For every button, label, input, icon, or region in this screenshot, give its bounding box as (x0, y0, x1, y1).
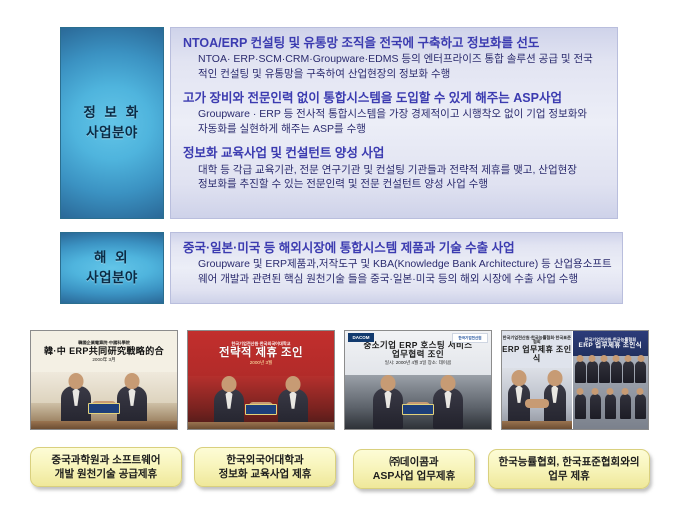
photo-banner-date: 일시: 2000년 4월 3일 장소: 데이콤 (385, 360, 452, 365)
photo-figures (502, 368, 572, 429)
photo-banner-main: 업무협력 조인 (392, 350, 444, 360)
photo-group-right: 한국기업전산원·한국능률협회 ERP 업무제휴 조인식 (573, 331, 648, 429)
section-label-line-2: 사업분야 (86, 268, 138, 288)
section-body-overseas-business-area: 중국·일본·미국 등 해외시장에 통합시스템 제품과 기술 수출 사업 Grou… (170, 232, 623, 304)
section-label-line-2: 사업분야 (86, 123, 138, 143)
caption-line: ㈜데이콤과 (389, 455, 438, 469)
business-item-desc-line: Groupware · ERP 등 전사적 통합시스템을 가장 경제적이고 시행… (183, 107, 607, 121)
photo-figures (188, 376, 334, 429)
business-item-title: 고가 장비와 전문인력 없이 통합시스템을 도입할 수 있게 해주는 ASP사업 (183, 90, 607, 106)
business-item: 중국·일본·미국 등 해외시장에 통합시스템 제품과 기술 수출 사업 Grou… (183, 240, 612, 286)
photo-signing-left: 한국기업전산원·한국능률협회·한국표준협회 ERP 업무제휴 조인식 (502, 331, 573, 429)
photo-group-figures (573, 356, 648, 429)
photo-banner-date: 2000년 3월 (250, 360, 273, 365)
business-item-desc-line: NTOA· ERP·SCM·CRM·Groupware·EDMS 등의 엔터프라… (183, 52, 607, 66)
section-body-it-business-area: NTOA/ERP 컨설팅 및 유통망 조직을 전국에 구축하고 정보화를 선도 … (170, 27, 618, 219)
photo-banner-top: 한국기업전산원·한국능률협회·한국표준협회 (502, 336, 572, 346)
caption-china-academy: 중국과학원과 소프트웨어 개발 원천기술 공급제휴 (30, 447, 182, 487)
business-item-desc-line: 자동화를 실현하게 해주는 ASP를 수행 (183, 122, 607, 136)
caption-kma-ksa: 한국능률협회, 한국표준협회와의 업무 제휴 (488, 449, 650, 489)
photo-banner-top: 한국기업전산원·한국외국어대학교 (231, 342, 290, 347)
photo-figures (31, 372, 177, 429)
business-item-desc-line: 적인 컨설팅 및 유통망을 구축하여 산업현장의 정보화 수행 (183, 67, 607, 81)
section-label-overseas-business-area: 해 외 사업분야 (60, 232, 164, 304)
section-it-business-area: 정 보 화 사업분야 NTOA/ERP 컨설팅 및 유통망 조직을 전국에 구축… (60, 27, 618, 219)
business-item-desc-line: 웨어 개발과 관련된 핵심 원천기술 들을 중국·일본·미국 등의 해외 시장에… (183, 272, 612, 286)
business-item-title: 중국·일본·미국 등 해외시장에 통합시스템 제품과 기술 수출 사업 (183, 240, 612, 256)
business-item-title: 정보화 교육사업 및 컨설턴트 양성 사업 (183, 145, 607, 161)
photo-table (31, 421, 177, 429)
business-item-desc-line: 정보화를 추진할 수 있는 전문인력 및 전문 컨설턴트 양성 사업 수행 (183, 177, 607, 191)
photo-banner-main: ERP 업무제휴 조인식 (579, 342, 643, 349)
caption-line: 업무 제휴 (548, 469, 590, 483)
photo-plaque (245, 404, 277, 415)
caption-line: 한국능률협회, 한국표준협회와의 (498, 455, 639, 469)
photo-wall (31, 372, 177, 403)
business-item: 고가 장비와 전문인력 없이 통합시스템을 도입할 수 있게 해주는 ASP사업… (183, 90, 607, 136)
photo-banner-top: 한국기업전산원·한국능률협회 (585, 338, 636, 343)
caption-line: 개발 원천기술 공급제휴 (55, 467, 157, 481)
photo-hufs-alliance: 한국기업전산원·한국외국어대학교 전략적 제휴 조인 2000년 3월 (187, 330, 335, 430)
photo-dacom-erp-hosting: 중소기업 ERP 호스팅 서비스 업무협력 조인 일시: 2000년 4월 3일… (344, 330, 492, 430)
caption-line: 정보화 교육사업 제휴 (219, 467, 312, 481)
caption-line: 중국과학원과 소프트웨어 (51, 453, 160, 467)
business-item: NTOA/ERP 컨설팅 및 유통망 조직을 전국에 구축하고 정보화를 선도 … (183, 35, 607, 81)
business-item-title: NTOA/ERP 컨설팅 및 유통망 조직을 전국에 구축하고 정보화를 선도 (183, 35, 607, 51)
section-label-line-1: 정 보 화 (83, 103, 140, 123)
caption-hufs: 한국외국어대학과 정보화 교육사업 제휴 (194, 447, 336, 487)
section-label-line-1: 해 외 (94, 248, 130, 268)
photo-plaque (402, 404, 434, 415)
photo-banner: 한국기업전산원·한국외국어대학교 전략적 제휴 조인 2000년 3월 (188, 331, 334, 376)
business-item-desc-line: 대학 등 각급 교육기관, 전문 연구기관 및 컨설팅 기관들과 전략적 제휴를… (183, 163, 607, 177)
photo-kma-ksa-alliance: 한국기업전산원·한국능률협회·한국표준협회 ERP 업무제휴 조인식 한국기업전… (501, 330, 649, 430)
photo-person-right (433, 388, 463, 429)
photo-row: 韓國企業電算院·中國科學院 韓·中 ERP共同研究戰略的合 2000年 3月 한… (30, 330, 650, 430)
photo-group-row-front (575, 394, 646, 419)
photo-figures (345, 375, 491, 429)
photo-plaque (88, 403, 120, 414)
photo-table (502, 421, 572, 430)
photo-banner: 韓國企業電算院·中國科學院 韓·中 ERP共同研究戰略的合 2000年 3月 (31, 331, 177, 372)
photo-person-left (373, 388, 403, 429)
photo-banner-date: 2000年 3月 (92, 357, 115, 362)
photo-banner-main: 韓·中 ERP共同研究戰略的合 (44, 346, 164, 356)
section-overseas-business-area: 해 외 사업분야 중국·일본·미국 등 해외시장에 통합시스템 제품과 기술 수… (60, 232, 618, 304)
kcci-logo: 한국기업전산원 (452, 333, 488, 343)
dacom-logo: DACOM (348, 333, 374, 342)
caption-line: 한국외국어대학과 (226, 453, 303, 467)
caption-line: ASP사업 업무제휴 (373, 469, 455, 483)
photo-group-row-back (575, 361, 646, 383)
photo-china-academy-of-sciences: 韓國企業電算院·中國科學院 韓·中 ERP共同研究戰略的合 2000年 3月 (30, 330, 178, 430)
business-item-desc-line: Groupware 및 ERP제품과,저작도구 및 KBA(Knowledge … (183, 257, 612, 271)
photo-banner: 한국기업전산원·한국능률협회·한국표준협회 ERP 업무제휴 조인식 (502, 331, 572, 368)
photo-banner-main: ERP 업무제휴 조인식 (502, 345, 572, 363)
section-label-it-business-area: 정 보 화 사업분야 (60, 27, 164, 219)
photo-handshake (525, 399, 549, 408)
photo-banner-main: 전략적 제휴 조인 (219, 347, 303, 360)
slide-root: 정 보 화 사업분야 NTOA/ERP 컨설팅 및 유통망 조직을 전국에 구축… (0, 0, 680, 510)
photo-table (188, 422, 334, 429)
caption-row: 중국과학원과 소프트웨어 개발 원천기술 공급제휴 한국외국어대학과 정보화 교… (30, 447, 650, 495)
caption-dacom: ㈜데이콤과 ASP사업 업무제휴 (353, 449, 475, 489)
business-item: 정보화 교육사업 및 컨설턴트 양성 사업 대학 등 각급 교육기관, 전문 연… (183, 145, 607, 191)
photo-banner-top: 韓國企業電算院·中國科學院 (78, 341, 130, 346)
photo-banner: 한국기업전산원·한국능률협회 ERP 업무제휴 조인식 (573, 331, 648, 356)
